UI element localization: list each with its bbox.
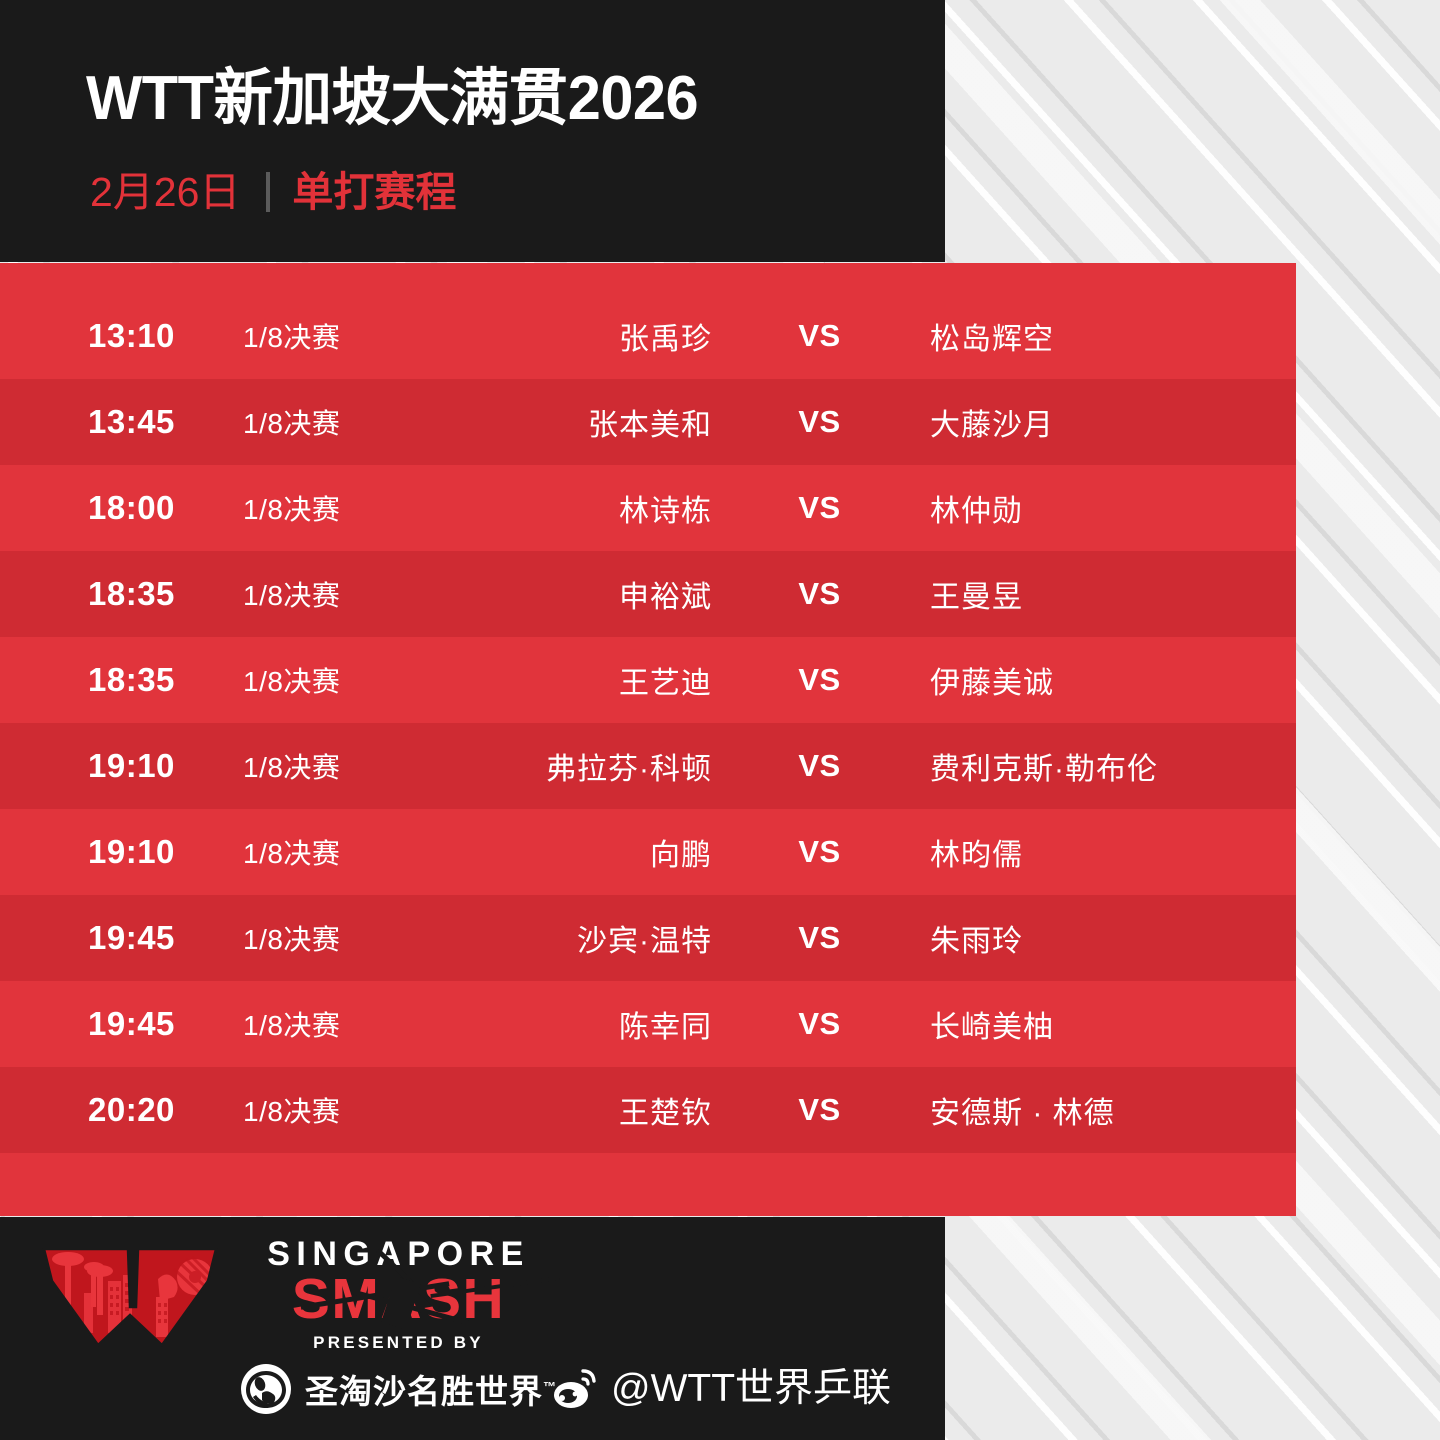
match-round: 1/8决赛: [243, 918, 340, 958]
schedule-rows: 13:101/8决赛张禹珍VS松岛辉空13:451/8决赛张本美和VS大藤沙月1…: [0, 293, 1296, 1153]
match-time: 19:10: [88, 747, 218, 785]
match-round: 1/8决赛: [243, 402, 340, 442]
vs-separator: VS: [712, 662, 927, 698]
player-one: 张本美和: [400, 400, 712, 444]
table-row: 19:451/8决赛陈幸同VS长崎美柚: [0, 981, 1296, 1067]
match-time: 20:20: [88, 1091, 218, 1129]
player-two: 大藤沙月: [930, 400, 1270, 444]
player-one: 王艺迪: [400, 658, 712, 702]
player-two: 长崎美柚: [930, 1002, 1270, 1046]
player-one: 沙宾·温特: [400, 916, 712, 960]
smash-name-text: SMASH: [292, 1267, 505, 1331]
schedule-event-type: 单打赛程: [292, 172, 456, 213]
vs-separator: VS: [712, 404, 927, 440]
player-one: 林诗栋: [400, 486, 712, 530]
schedule-date: 2月26日: [90, 172, 240, 213]
header-panel: WTT新加坡大满贯2026 2月26日 单打赛程: [0, 0, 945, 262]
vs-separator: VS: [712, 748, 927, 784]
match-round: 1/8决赛: [243, 746, 340, 786]
vs-separator: VS: [712, 1006, 927, 1042]
smash-w-skyline-logo: [40, 1241, 220, 1349]
header-subtitle: 2月26日 单打赛程: [90, 166, 456, 218]
player-one: 向鹏: [400, 830, 712, 874]
match-round: 1/8决赛: [243, 574, 340, 614]
match-time: 13:10: [88, 317, 218, 355]
player-two: 安德斯 · 林德: [930, 1088, 1270, 1132]
smash-name-label: SMASH: [292, 1271, 505, 1328]
table-row: 18:351/8决赛申裕斌VS王曼昱: [0, 551, 1296, 637]
table-row: 20:201/8决赛王楚钦VS安德斯 · 林德: [0, 1067, 1296, 1153]
social-handle-label: @WTT世界乒联: [611, 1369, 891, 1408]
smash-wordmark: SINGAPORE SMASH PRESENTED BY: [240, 1235, 557, 1415]
vs-separator: VS: [712, 318, 927, 354]
player-two: 松岛辉空: [930, 314, 1270, 358]
social-handle-row[interactable]: @WTT世界乒联: [553, 1367, 891, 1409]
match-time: 19:45: [88, 1005, 218, 1043]
table-row: 13:101/8决赛张禹珍VS松岛辉空: [0, 293, 1296, 379]
vs-separator: VS: [712, 490, 927, 526]
match-time: 19:45: [88, 919, 218, 957]
match-time: 18:00: [88, 489, 218, 527]
table-row: 13:451/8决赛张本美和VS大藤沙月: [0, 379, 1296, 465]
table-row: 19:101/8决赛向鹏VS林昀儒: [0, 809, 1296, 895]
match-round: 1/8决赛: [243, 1004, 340, 1044]
player-two: 朱雨玲: [930, 916, 1270, 960]
player-one: 申裕斌: [400, 572, 712, 616]
match-time: 18:35: [88, 661, 218, 699]
presented-by-label: PRESENTED BY: [313, 1333, 484, 1353]
match-round: 1/8决赛: [243, 660, 340, 700]
player-two: 费利克斯·勒布伦: [930, 744, 1270, 788]
vs-separator: VS: [712, 1092, 927, 1128]
player-two: 王曼昱: [930, 572, 1270, 616]
singapore-smash-lockup: SINGAPORE SMASH PRESENTED BY: [40, 1235, 557, 1415]
subtitle-divider: [266, 172, 270, 212]
match-round: 1/8决赛: [243, 488, 340, 528]
match-round: 1/8决赛: [243, 1090, 340, 1130]
schedule-panel: 13:101/8决赛张禹珍VS松岛辉空13:451/8决赛张本美和VS大藤沙月1…: [0, 263, 1296, 1216]
match-round: 1/8决赛: [243, 832, 340, 872]
sponsor-lockup: 圣淘沙名胜世界™: [240, 1363, 557, 1415]
player-two: 林昀儒: [930, 830, 1270, 874]
table-row: 18:351/8决赛王艺迪VS伊藤美诚: [0, 637, 1296, 723]
table-row: 19:101/8决赛弗拉芬·科顿VS费利克斯·勒布伦: [0, 723, 1296, 809]
match-time: 18:35: [88, 575, 218, 613]
match-round: 1/8决赛: [243, 316, 340, 356]
vs-separator: VS: [712, 576, 927, 612]
vs-separator: VS: [712, 920, 927, 956]
player-one: 王楚钦: [400, 1088, 712, 1132]
weibo-icon: [553, 1367, 599, 1409]
player-one: 弗拉芬·科顿: [400, 744, 712, 788]
player-one: 张禹珍: [400, 314, 712, 358]
vs-separator: VS: [712, 834, 927, 870]
page-title: WTT新加坡大满贯2026: [86, 68, 698, 130]
match-time: 19:10: [88, 833, 218, 871]
poster-root: WTT新加坡大满贯2026 2月26日 单打赛程 13:101/8决赛张禹珍VS…: [0, 0, 1440, 1440]
table-row: 19:451/8决赛沙宾·温特VS朱雨玲: [0, 895, 1296, 981]
player-two: 伊藤美诚: [930, 658, 1270, 702]
sponsor-name: 圣淘沙名胜世界™: [305, 1365, 557, 1413]
resorts-world-globe-icon: [240, 1363, 292, 1415]
table-row: 18:001/8决赛林诗栋VS林仲勋: [0, 465, 1296, 551]
sponsor-name-text: 圣淘沙名胜世界: [305, 1373, 543, 1410]
player-one: 陈幸同: [400, 1002, 712, 1046]
match-time: 13:45: [88, 403, 218, 441]
player-two: 林仲勋: [930, 486, 1270, 530]
